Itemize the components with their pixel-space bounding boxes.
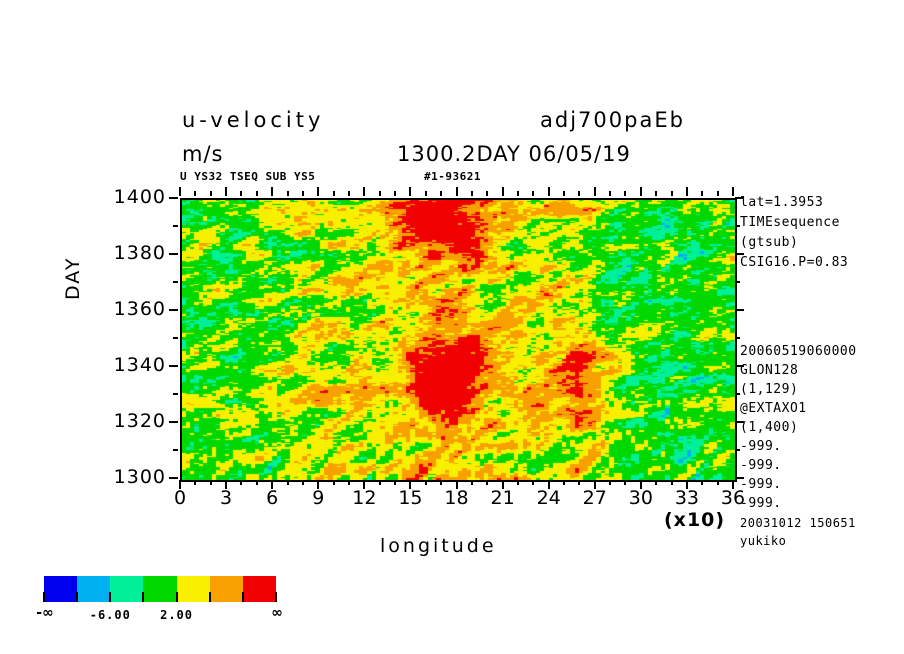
colorbar-swatch xyxy=(44,576,77,602)
x-tick-minor-top xyxy=(563,191,565,196)
y-axis-title: DAY xyxy=(62,257,84,300)
x-tick-minor-top xyxy=(240,191,242,196)
side-note: -999. xyxy=(740,496,782,511)
y-tick-major-right xyxy=(735,309,744,311)
x-tick-minor-top xyxy=(440,191,442,196)
header-id-label: #1-93621 xyxy=(424,170,481,183)
colorbar-tick xyxy=(76,592,78,602)
x-tick-major-top xyxy=(594,187,596,196)
x-tick-minor-top xyxy=(302,191,304,196)
side-note: (1,400) xyxy=(740,420,798,435)
y-tick-label: 1380 xyxy=(84,242,166,264)
x-tick-label: 0 xyxy=(156,487,204,509)
y-tick-major xyxy=(169,253,178,255)
x-tick-major-top xyxy=(225,187,227,196)
x-tick-minor xyxy=(440,480,442,485)
side-note: -999. xyxy=(740,477,782,492)
x-tick-label: 30 xyxy=(617,487,665,509)
colorbar-tick xyxy=(109,592,111,602)
x-tick-minor-top xyxy=(717,191,719,196)
colorbar-max-label: ∞ xyxy=(262,605,292,621)
x-tick-minor-top xyxy=(701,191,703,196)
x-tick-label: 33 xyxy=(663,487,711,509)
x-tick-minor xyxy=(671,480,673,485)
x-tick-minor-top xyxy=(194,191,196,196)
colorbar-tick xyxy=(142,592,144,602)
side-note: TIMEsequence xyxy=(740,215,840,230)
x-axis-multiplier-label: (x10) xyxy=(664,509,725,531)
x-tick-minor xyxy=(394,480,396,485)
x-tick-label: 9 xyxy=(294,487,342,509)
side-note: -999. xyxy=(740,458,782,473)
x-tick-major-top xyxy=(271,187,273,196)
x-tick-label: 15 xyxy=(386,487,434,509)
y-tick-label: 1400 xyxy=(84,186,166,208)
x-tick-minor xyxy=(563,480,565,485)
colorbar-swatch xyxy=(110,576,143,602)
side-note: CSIG16.P=0.83 xyxy=(740,255,848,270)
plot-title-dataset: adj700paEb xyxy=(540,108,685,132)
x-tick-minor xyxy=(578,480,580,485)
x-tick-label: 21 xyxy=(479,487,527,509)
y-tick-major xyxy=(169,365,178,367)
x-tick-minor xyxy=(471,480,473,485)
y-tick-minor xyxy=(173,449,178,451)
y-tick-minor-right xyxy=(735,337,740,339)
x-tick-major-top xyxy=(456,187,458,196)
side-note: (1,129) xyxy=(740,382,798,397)
x-tick-minor xyxy=(240,480,242,485)
colorbar-tick xyxy=(242,592,244,602)
x-tick-minor xyxy=(425,480,427,485)
heatmap-plot-area xyxy=(180,198,737,482)
x-tick-minor-top xyxy=(486,191,488,196)
x-tick-minor-top xyxy=(348,191,350,196)
x-tick-minor-top xyxy=(394,191,396,196)
x-tick-major-top xyxy=(686,187,688,196)
x-tick-label: 3 xyxy=(202,487,250,509)
x-tick-major-top xyxy=(363,187,365,196)
colorbar-min-label: -∞ xyxy=(30,605,60,621)
x-tick-major-top xyxy=(317,187,319,196)
x-tick-minor-top xyxy=(671,191,673,196)
x-tick-minor-top xyxy=(210,191,212,196)
x-tick-major-top xyxy=(502,187,504,196)
x-tick-minor-top xyxy=(517,191,519,196)
username-label: yukiko xyxy=(740,534,786,548)
plot-title-units: m/s xyxy=(182,142,223,166)
x-tick-minor xyxy=(532,480,534,485)
x-tick-minor xyxy=(609,480,611,485)
x-tick-minor-top xyxy=(425,191,427,196)
x-tick-minor-top xyxy=(379,191,381,196)
x-tick-minor xyxy=(701,480,703,485)
y-tick-label: 1360 xyxy=(84,298,166,320)
side-note: 20060519060000 xyxy=(740,344,857,359)
x-tick-minor-top xyxy=(333,191,335,196)
y-tick-major xyxy=(169,477,178,479)
x-tick-minor xyxy=(287,480,289,485)
x-tick-label: 24 xyxy=(525,487,573,509)
timestamp-label: 20031012 150651 xyxy=(740,516,856,530)
colorbar-tick xyxy=(209,592,211,602)
y-tick-minor xyxy=(173,225,178,227)
x-tick-minor xyxy=(333,480,335,485)
y-tick-minor xyxy=(173,281,178,283)
x-tick-minor xyxy=(517,480,519,485)
x-tick-minor xyxy=(379,480,381,485)
colorbar-swatch xyxy=(143,576,176,602)
y-tick-minor xyxy=(173,393,178,395)
x-tick-label: 12 xyxy=(340,487,388,509)
side-note: @EXTAXO1 xyxy=(740,401,807,416)
x-tick-minor-top xyxy=(471,191,473,196)
colorbar-swatch xyxy=(243,576,276,602)
x-tick-minor xyxy=(655,480,657,485)
side-note: -999. xyxy=(740,439,782,454)
x-tick-major-top xyxy=(640,187,642,196)
x-tick-major-top xyxy=(179,187,181,196)
y-tick-major xyxy=(169,197,178,199)
x-tick-minor-top xyxy=(287,191,289,196)
x-tick-minor-top xyxy=(655,191,657,196)
colorbar-label: 2.00 xyxy=(147,608,207,622)
x-tick-minor-top xyxy=(256,191,258,196)
y-tick-minor xyxy=(173,337,178,339)
x-tick-minor xyxy=(194,480,196,485)
x-tick-minor xyxy=(717,480,719,485)
colorbar-tick xyxy=(275,592,277,602)
y-tick-major xyxy=(169,309,178,311)
colorbar-label: -6.00 xyxy=(80,608,140,622)
x-tick-minor xyxy=(486,480,488,485)
plot-title-time: 1300.2DAY 06/05/19 xyxy=(397,142,631,166)
colorbar-swatch xyxy=(77,576,110,602)
x-tick-major-top xyxy=(548,187,550,196)
x-tick-minor xyxy=(302,480,304,485)
x-tick-major-top xyxy=(732,187,734,196)
heatmap-canvas xyxy=(182,200,735,480)
x-tick-label: 18 xyxy=(433,487,481,509)
x-tick-label: 27 xyxy=(571,487,619,509)
x-tick-minor-top xyxy=(609,191,611,196)
x-tick-minor xyxy=(210,480,212,485)
colorbar-tick xyxy=(176,592,178,602)
side-note: lat=1.3953 xyxy=(740,195,823,210)
y-tick-label: 1320 xyxy=(84,410,166,432)
header-flags-label: U YS32 TSEQ SUB YS5 xyxy=(180,170,315,183)
x-tick-minor-top xyxy=(532,191,534,196)
y-tick-major xyxy=(169,421,178,423)
x-tick-major-top xyxy=(409,187,411,196)
x-tick-label: 6 xyxy=(248,487,296,509)
colorbar-swatch xyxy=(210,576,243,602)
y-tick-label: 1340 xyxy=(84,354,166,376)
side-note: GLON128 xyxy=(740,363,798,378)
x-tick-minor-top xyxy=(624,191,626,196)
side-note: (gtsub) xyxy=(740,235,798,250)
x-tick-minor-top xyxy=(578,191,580,196)
x-tick-minor xyxy=(624,480,626,485)
colorbar-tick xyxy=(43,592,45,602)
y-tick-label: 1300 xyxy=(84,466,166,488)
x-axis-title: longitude xyxy=(380,535,497,557)
plot-title-variable: u-velocity xyxy=(182,108,324,132)
colorbar-swatch xyxy=(177,576,210,602)
y-tick-minor-right xyxy=(735,281,740,283)
x-tick-minor xyxy=(256,480,258,485)
x-tick-minor xyxy=(348,480,350,485)
